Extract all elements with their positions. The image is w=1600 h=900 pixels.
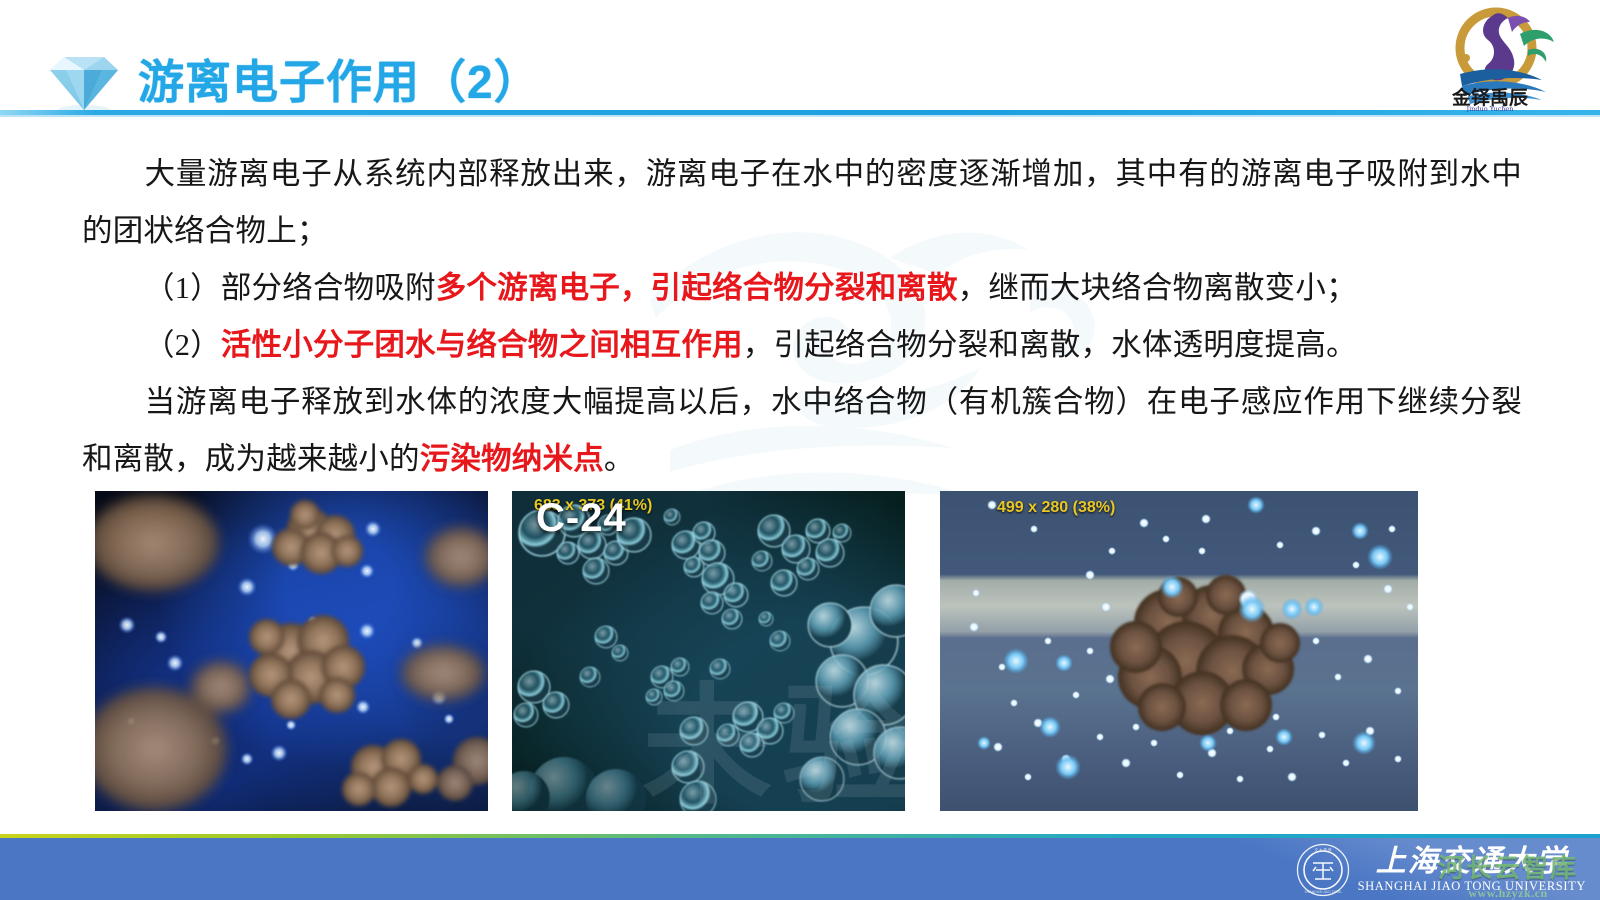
item-1-pre: 部分络合物吸附: [221, 271, 436, 305]
page-title: 游离电子作用（2）: [138, 46, 541, 112]
image-row: 未验: [0, 491, 1600, 811]
image-1-content: [95, 491, 488, 811]
item-2-marker: （2）: [144, 328, 221, 362]
list-item-2: （2）活性小分子团水与络合物之间相互作用，引起络合物分裂和离散，水体透明度提高。: [82, 317, 1522, 374]
image-floc-particles-blue-field[interactable]: [95, 491, 488, 811]
sjtu-logo: 交 大 精 神 SHANGHAI JIAO TONG 上海交通大学 SHANGH…: [1296, 841, 1586, 899]
jinduo-yuchen-logo: 金铎禹辰 Jinduo Yuchen: [1396, 4, 1582, 112]
item-2-post: ，引起络合物分裂和离散，水体透明度提高。: [743, 328, 1357, 362]
svg-text:SHANGHAI JIAO TONG: SHANGHAI JIAO TONG: [1304, 890, 1341, 894]
university-name-cn: 上海交通大学: [1376, 847, 1568, 877]
list-item-1: （1）部分络合物吸附多个游离电子，引起络合物分裂和离散，继而大块络合物离散变小；: [82, 260, 1522, 317]
item-1-highlight: 多个游离电子，引起络合物分裂和离散: [436, 271, 958, 305]
image-cluster-spheres-teal[interactable]: 未验: [512, 491, 905, 811]
slide-header: 游离电子作用（2） 金铎禹辰 Jinduo Yuchen: [0, 0, 1600, 116]
paragraph-2-pre: 当游离电子释放到水体的浓度大幅提高以后，水中络合物（有机簇合物）在电子感应作用下…: [82, 385, 1522, 476]
diamond-icon: [38, 48, 130, 116]
svg-text:Jinduo Yuchen: Jinduo Yuchen: [1466, 105, 1514, 112]
svg-text:交 大 精 神: 交 大 精 神: [1314, 847, 1331, 852]
paragraph-2-highlight: 污染物纳米点: [420, 442, 604, 476]
item-1-marker: （1）: [144, 271, 221, 305]
image-3-overlay-label: 499 x 280 (38%): [997, 499, 1115, 517]
slide-footer: 交 大 精 神 SHANGHAI JIAO TONG 上海交通大学 SHANGH…: [0, 838, 1600, 900]
slide-body-text: 大量游离电子从系统内部释放出来，游离电子在水中的密度逐渐增加，其中有的游离电子吸…: [82, 146, 1522, 488]
image-3-content: [940, 491, 1418, 811]
presentation-slide: 游离电子作用（2） 金铎禹辰 Jinduo Yuchen 大量游离电子从系统内部…: [0, 0, 1600, 900]
image-single-floc-with-electrons[interactable]: 499 x 280 (38%): [940, 491, 1418, 811]
sjtu-wordmark: 上海交通大学 SHANGHAI JIAO TONG UNIVERSITY: [1358, 847, 1586, 893]
university-name-en: SHANGHAI JIAO TONG UNIVERSITY: [1358, 880, 1586, 893]
item-1-post: ，继而大块络合物离散变小；: [958, 271, 1357, 305]
paragraph-2-post: 。: [604, 442, 635, 476]
paragraph-lead-text: 大量游离电子从系统内部释放出来，游离电子在水中的密度逐渐增加，其中有的游离电子吸…: [82, 157, 1522, 248]
item-2-highlight: 活性小分子团水与络合物之间相互作用: [221, 328, 743, 362]
sjtu-seal-icon: 交 大 精 神 SHANGHAI JIAO TONG: [1296, 843, 1350, 897]
image-2-big-label: C-24: [536, 496, 627, 541]
paragraph-closing: 当游离电子释放到水体的浓度大幅提高以后，水中络合物（有机簇合物）在电子感应作用下…: [82, 374, 1522, 488]
paragraph-lead: 大量游离电子从系统内部释放出来，游离电子在水中的密度逐渐增加，其中有的游离电子吸…: [82, 146, 1522, 260]
header-divider-secondary: [0, 115, 1600, 117]
